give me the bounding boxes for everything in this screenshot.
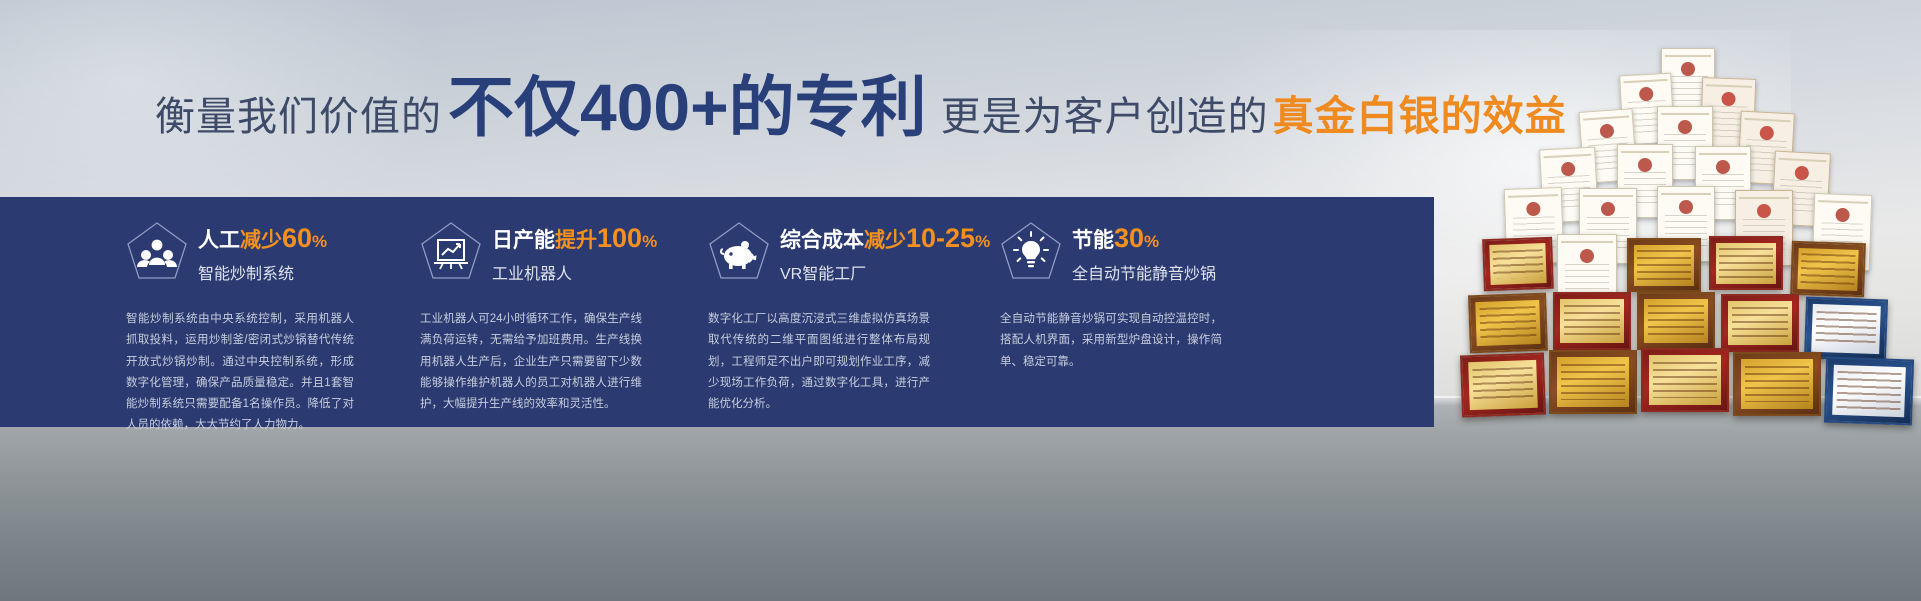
feature-card-body: 数字化工厂以高度沉浸式三维虚拟仿真场景取代传统的二维平面图纸进行整体布局规划，工… bbox=[708, 309, 930, 415]
award-plaque bbox=[1627, 238, 1701, 292]
title-prefix: 日产能 bbox=[492, 229, 555, 252]
title-highlight: 提升 bbox=[555, 229, 597, 252]
feature-card-subtitle: 工业机器人 bbox=[492, 260, 657, 284]
page-title: 衡量我们价值的 不仅400+的专利 更是为客户创造的 真金白银的效益 bbox=[155, 74, 1567, 140]
feature-card-capacity: 日产能提升100% 工业机器人 工业机器人可24小时循环工作，确保生产线满负荷运… bbox=[420, 197, 682, 427]
feature-card-body: 智能炒制系统由中央系统控制，采用机器人抓取投料，运用炒制釜/密闭式炒锅替代传统开… bbox=[126, 309, 354, 437]
award-plaque bbox=[1721, 294, 1799, 352]
feature-card-body: 工业机器人可24小时循环工作，确保生产线满负荷运转，无需给予加班费用。生产线换用… bbox=[420, 309, 642, 415]
feature-card-subtitle: 智能炒制系统 bbox=[198, 260, 327, 284]
feature-panel: 人工减少60% 智能炒制系统 智能炒制系统由中央系统控制，采用机器人抓取投料，运… bbox=[0, 197, 1434, 427]
title-unit: % bbox=[312, 232, 327, 251]
title-number: 10-25 bbox=[906, 223, 975, 253]
award-plaque bbox=[1790, 241, 1866, 298]
award-plaque bbox=[1549, 350, 1637, 414]
team-people-icon bbox=[126, 221, 188, 281]
award-plaque bbox=[1482, 237, 1554, 291]
title-number: 30 bbox=[1114, 223, 1144, 253]
feature-card-title: 节能30% bbox=[1072, 223, 1216, 254]
title-prefix: 节能 bbox=[1072, 229, 1114, 252]
award-plaque bbox=[1709, 236, 1783, 290]
feature-card-energy: 节能30% 全自动节能静音炒锅 全自动节能静音炒锅可实现自动控温控时，搭配人机界… bbox=[1000, 197, 1262, 427]
title-prefix: 综合成本 bbox=[780, 229, 864, 252]
title-number: 60 bbox=[282, 223, 312, 253]
title-unit: % bbox=[642, 232, 657, 251]
award-plaque bbox=[1733, 352, 1821, 416]
feature-card-title: 日产能提升100% bbox=[492, 223, 657, 254]
banner-stage: 衡量我们价值的 不仅400+的专利 更是为客户创造的 真金白银的效益 bbox=[0, 0, 1921, 601]
award-plaque bbox=[1460, 353, 1546, 418]
award-plaque bbox=[1553, 292, 1631, 350]
feature-card-subtitle: VR智能工厂 bbox=[780, 260, 990, 284]
title-highlight: 减少 bbox=[864, 229, 906, 252]
piggy-bank-icon bbox=[708, 221, 770, 281]
award-plaque bbox=[1637, 292, 1715, 350]
feature-card-subtitle: 全自动节能静音炒锅 bbox=[1072, 260, 1216, 284]
feature-card-title: 人工减少60% bbox=[198, 223, 327, 254]
award-plaque bbox=[1468, 293, 1548, 354]
headline-accent: 真金白银的效益 bbox=[1273, 96, 1567, 137]
headline-prefix: 衡量我们价值的 bbox=[155, 97, 442, 137]
award-plaque bbox=[1824, 356, 1914, 425]
lightbulb-icon bbox=[1000, 221, 1062, 281]
feature-card-body: 全自动节能静音炒锅可实现自动控温控时，搭配人机界面，采用新型炉盘设计，操作简单、… bbox=[1000, 309, 1222, 373]
chart-board-icon bbox=[420, 221, 482, 281]
title-unit: % bbox=[1144, 232, 1159, 251]
feature-card-title: 综合成本减少10-25% bbox=[780, 223, 990, 254]
title-unit: % bbox=[975, 232, 990, 251]
title-prefix: 人工 bbox=[198, 229, 240, 252]
title-highlight: 减少 bbox=[240, 229, 282, 252]
title-number: 100 bbox=[597, 223, 642, 253]
feature-card-labor: 人工减少60% 智能炒制系统 智能炒制系统由中央系统控制，采用机器人抓取投料，运… bbox=[126, 197, 394, 427]
award-plaque bbox=[1641, 348, 1729, 412]
headline-strong: 不仅400+的专利 bbox=[448, 74, 927, 140]
headline-middle: 更是为客户创造的 bbox=[941, 97, 1269, 137]
feature-card-cost: 综合成本减少10-25% VR智能工厂 数字化工厂以高度沉浸式三维虚拟仿真场景取… bbox=[708, 197, 970, 427]
